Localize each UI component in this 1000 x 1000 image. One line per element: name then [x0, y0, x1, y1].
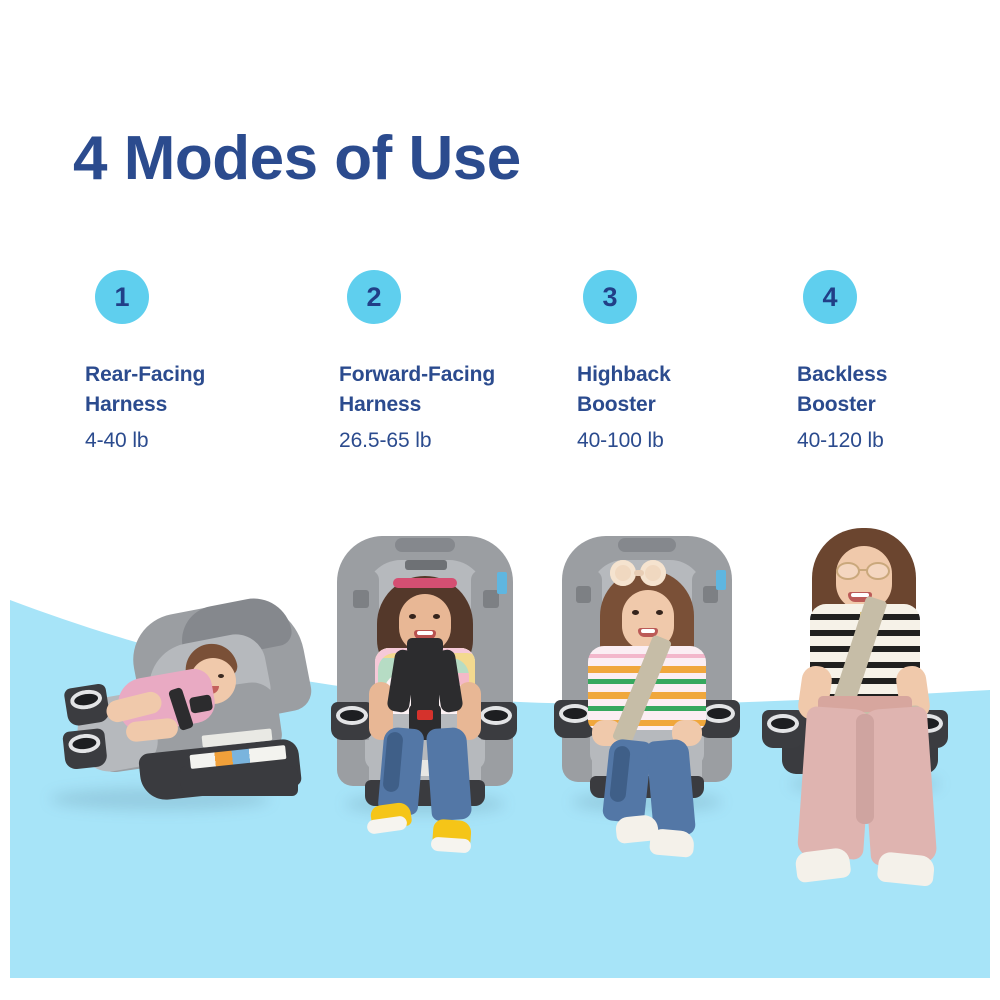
- figure-highback-booster: [548, 534, 748, 874]
- figure-backless-booster: [760, 516, 980, 916]
- mode-name-2: Forward-Facing Harness: [339, 360, 577, 420]
- cup-holder: [475, 702, 517, 740]
- mode-badge-1: 1: [95, 270, 149, 324]
- mode-column-3: 3 Highback Booster 40-100 lb: [583, 270, 813, 455]
- mode-column-2: 2 Forward-Facing Harness 26.5-65 lb: [347, 270, 577, 455]
- mode-name-1: Rear-Facing Harness: [85, 360, 325, 420]
- figure-rear-facing-harness: [30, 600, 310, 820]
- mode-weight-1: 4-40 lb: [85, 426, 325, 456]
- mode-weight-2: 26.5-65 lb: [339, 426, 577, 456]
- mode-badge-4: 4: [803, 270, 857, 324]
- mode-weight-3: 40-100 lb: [577, 426, 813, 456]
- mode-badge-2: 2: [347, 270, 401, 324]
- cup-holder: [63, 683, 110, 727]
- mode-column-1: 1 Rear-Facing Harness 4-40 lb: [95, 270, 325, 455]
- cup-holder: [762, 710, 804, 748]
- cup-holder: [331, 702, 373, 740]
- mode-weight-4: 40-120 lb: [797, 426, 1000, 456]
- mode-name-3: Highback Booster: [577, 360, 813, 420]
- page-title: 4 Modes of Use: [73, 126, 521, 191]
- figure-forward-facing-harness: [325, 532, 525, 872]
- mode-name-4: Backless Booster: [797, 360, 1000, 420]
- mode-column-4: 4 Backless Booster 40-120 lb: [803, 270, 1000, 455]
- mode-badge-3: 3: [583, 270, 637, 324]
- infographic-canvas: 4 Modes of Use 1 Rear-Facing Harness 4-4…: [0, 0, 1000, 1000]
- cup-holder: [62, 728, 108, 770]
